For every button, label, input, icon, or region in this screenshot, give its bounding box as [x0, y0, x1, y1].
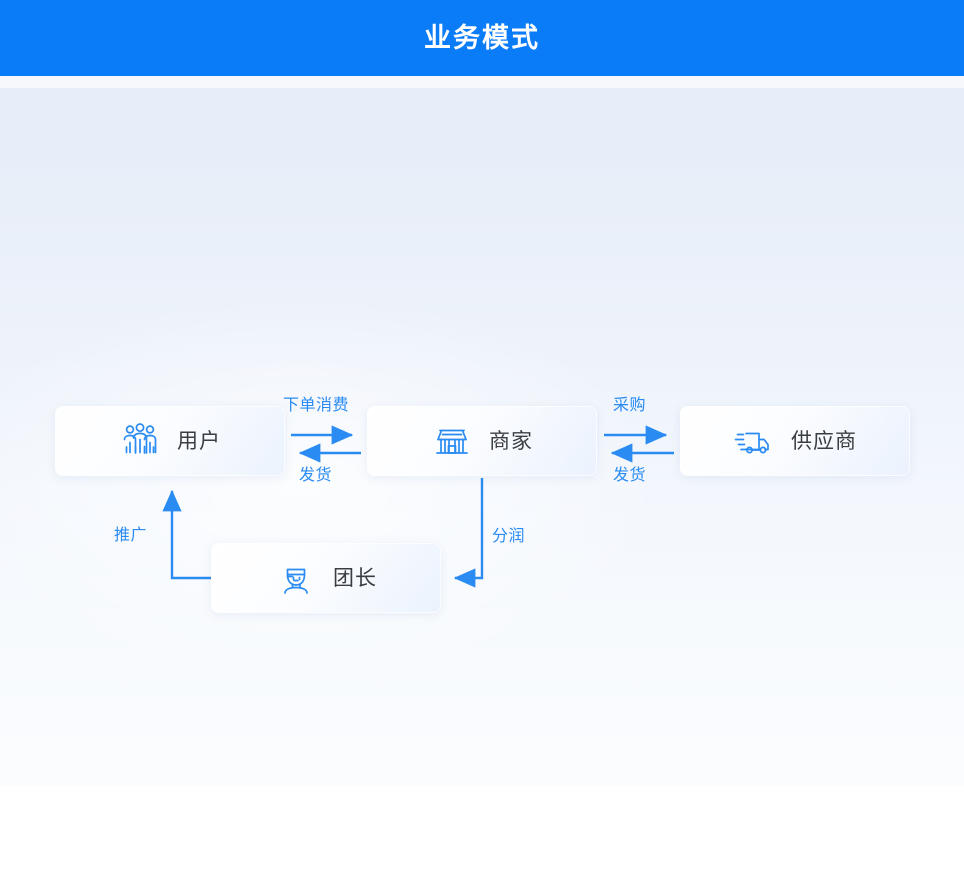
connector-layer	[0, 88, 964, 874]
page-title: 业务模式	[424, 25, 540, 52]
node-label-user: 用户	[177, 431, 221, 452]
storefront-icon	[431, 420, 473, 462]
node-user[interactable]: 用户	[55, 406, 285, 476]
node-leader[interactable]: 团长	[211, 543, 441, 613]
page-header: 业务模式	[0, 0, 964, 76]
edge-label-ship-to-user: 发货	[299, 468, 332, 484]
arrow-profit-merchant-to-leader	[455, 478, 482, 578]
business-model-diagram-page: 业务模式	[0, 0, 964, 786]
node-supplier[interactable]: 供应商	[680, 406, 910, 476]
users-group-icon	[119, 420, 161, 462]
node-label-merchant: 商家	[489, 431, 533, 452]
person-cap-icon	[275, 557, 317, 599]
edge-label-order: 下单消费	[283, 398, 349, 414]
diagram-canvas: 下单消费 发货 采购 发货 推广 分润 用户	[0, 88, 964, 786]
edge-label-profit: 分润	[492, 529, 525, 545]
node-merchant[interactable]: 商家	[367, 406, 597, 476]
edge-label-purchase: 采购	[613, 398, 646, 414]
edge-label-ship-to-merchant: 发货	[613, 468, 646, 484]
arrow-promote-leader-to-user	[172, 491, 211, 578]
node-label-leader: 团长	[333, 568, 377, 589]
node-label-supplier: 供应商	[791, 431, 857, 452]
edge-label-promote: 推广	[114, 528, 147, 544]
delivery-truck-icon	[733, 420, 775, 462]
